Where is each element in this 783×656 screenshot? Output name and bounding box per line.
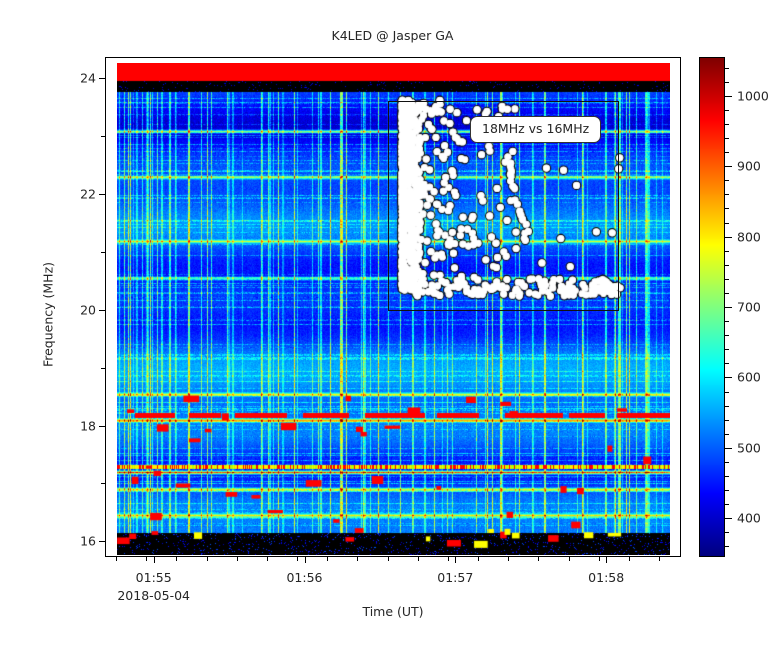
y-axis-major-tick xyxy=(99,426,105,427)
colorbar-minor-tick xyxy=(725,152,729,153)
y-axis-minor-tick xyxy=(101,483,105,484)
colorbar-major-tick xyxy=(725,448,732,449)
colorbar-minor-tick xyxy=(725,68,729,69)
colorbar-major-tick xyxy=(725,237,732,238)
colorbar-minor-tick xyxy=(725,434,729,435)
x-axis-minor-tick xyxy=(599,557,600,561)
colorbar-major-tick xyxy=(725,307,732,308)
colorbar-gradient xyxy=(700,58,724,556)
colorbar-major-tick xyxy=(725,166,732,167)
x-axis-minor-tick xyxy=(659,557,660,561)
colorbar-tick-label: 600 xyxy=(737,370,761,385)
x-axis-major-tick xyxy=(305,557,306,563)
x-axis-tick-label: 01:58 xyxy=(588,570,624,585)
colorbar-minor-tick xyxy=(725,406,729,407)
y-axis-major-tick xyxy=(99,310,105,311)
x-axis-minor-tick xyxy=(569,557,570,561)
y-axis-major-tick xyxy=(99,78,105,79)
colorbar-tick-label: 800 xyxy=(737,229,761,244)
colorbar-minor-tick xyxy=(725,321,729,322)
colorbar-tick-label: 700 xyxy=(737,300,761,315)
colorbar-minor-tick xyxy=(725,392,729,393)
colorbar-minor-tick xyxy=(725,251,729,252)
colorbar-minor-tick xyxy=(725,420,729,421)
x-axis-minor-tick xyxy=(267,557,268,561)
x-axis-minor-tick xyxy=(388,557,389,561)
x-axis-minor-tick xyxy=(297,557,298,561)
colorbar-minor-tick xyxy=(725,335,729,336)
x-axis-minor-tick xyxy=(357,557,358,561)
colorbar-minor-tick xyxy=(725,532,729,533)
roi-annotation-label: 18MHz vs 16MHz xyxy=(470,116,601,143)
colorbar-tick-label: 1000 xyxy=(737,88,769,103)
colorbar-minor-tick xyxy=(725,349,729,350)
y-axis-tick-label: 20 xyxy=(80,302,96,317)
x-axis-minor-tick xyxy=(508,557,509,561)
colorbar-minor-tick xyxy=(725,546,729,547)
colorbar[interactable] xyxy=(699,57,725,557)
colorbar-major-tick xyxy=(725,377,732,378)
colorbar-minor-tick xyxy=(725,223,729,224)
colorbar-minor-tick xyxy=(725,490,729,491)
x-axis-minor-tick xyxy=(629,557,630,561)
colorbar-minor-tick xyxy=(725,110,729,111)
y-axis-minor-tick xyxy=(101,252,105,253)
x-axis-tick-label: 01:56 xyxy=(286,570,322,585)
x-axis-minor-tick xyxy=(418,557,419,561)
colorbar-tick-label: 500 xyxy=(737,440,761,455)
x-axis-minor-tick xyxy=(237,557,238,561)
colorbar-minor-tick xyxy=(725,265,729,266)
x-axis-label: Time (UT) xyxy=(105,604,681,619)
colorbar-tick-label: 900 xyxy=(737,159,761,174)
x-axis-minor-tick xyxy=(448,557,449,561)
y-axis-tick-label: 16 xyxy=(80,534,96,549)
x-axis-tick-label: 01:55 xyxy=(136,570,172,585)
colorbar-minor-tick xyxy=(725,363,729,364)
x-axis-major-tick xyxy=(606,557,607,563)
y-axis-tick-label: 24 xyxy=(80,71,96,86)
colorbar-major-tick xyxy=(725,96,732,97)
x-axis-minor-tick xyxy=(538,557,539,561)
y-axis-label: Frequency (MHz) xyxy=(41,205,56,425)
colorbar-minor-tick xyxy=(725,82,729,83)
y-axis-minor-tick xyxy=(101,368,105,369)
colorbar-minor-tick xyxy=(725,279,729,280)
colorbar-minor-tick xyxy=(725,462,729,463)
colorbar-minor-tick xyxy=(725,138,729,139)
x-axis-minor-tick xyxy=(207,557,208,561)
spectrogram-figure: K4LED @ Jasper GA 18MHz vs 16MHz Frequen… xyxy=(0,0,783,656)
plot-area[interactable]: 18MHz vs 16MHz xyxy=(105,57,681,557)
x-axis-minor-tick xyxy=(176,557,177,561)
y-axis-minor-tick xyxy=(101,136,105,137)
x-axis-major-tick xyxy=(154,557,155,563)
y-axis-major-tick xyxy=(99,194,105,195)
x-axis-minor-tick xyxy=(327,557,328,561)
colorbar-minor-tick xyxy=(725,208,729,209)
colorbar-minor-tick xyxy=(725,194,729,195)
y-axis-tick-label: 18 xyxy=(80,418,96,433)
y-axis-tick-label: 22 xyxy=(80,187,96,202)
x-axis-minor-tick xyxy=(146,557,147,561)
page-title: K4LED @ Jasper GA xyxy=(105,28,680,43)
x-axis-minor-tick xyxy=(116,557,117,561)
colorbar-major-tick xyxy=(725,518,732,519)
x-axis-minor-tick xyxy=(478,557,479,561)
colorbar-minor-tick xyxy=(725,293,729,294)
colorbar-minor-tick xyxy=(725,504,729,505)
colorbar-minor-tick xyxy=(725,476,729,477)
y-axis-major-tick xyxy=(99,541,105,542)
x-axis-major-tick xyxy=(455,557,456,563)
colorbar-minor-tick xyxy=(725,124,729,125)
colorbar-tick-label: 400 xyxy=(737,511,761,526)
x-axis-tick-label: 01:57 xyxy=(437,570,473,585)
colorbar-minor-tick xyxy=(725,180,729,181)
x-axis-date-label: 2018-05-04 xyxy=(117,588,190,603)
